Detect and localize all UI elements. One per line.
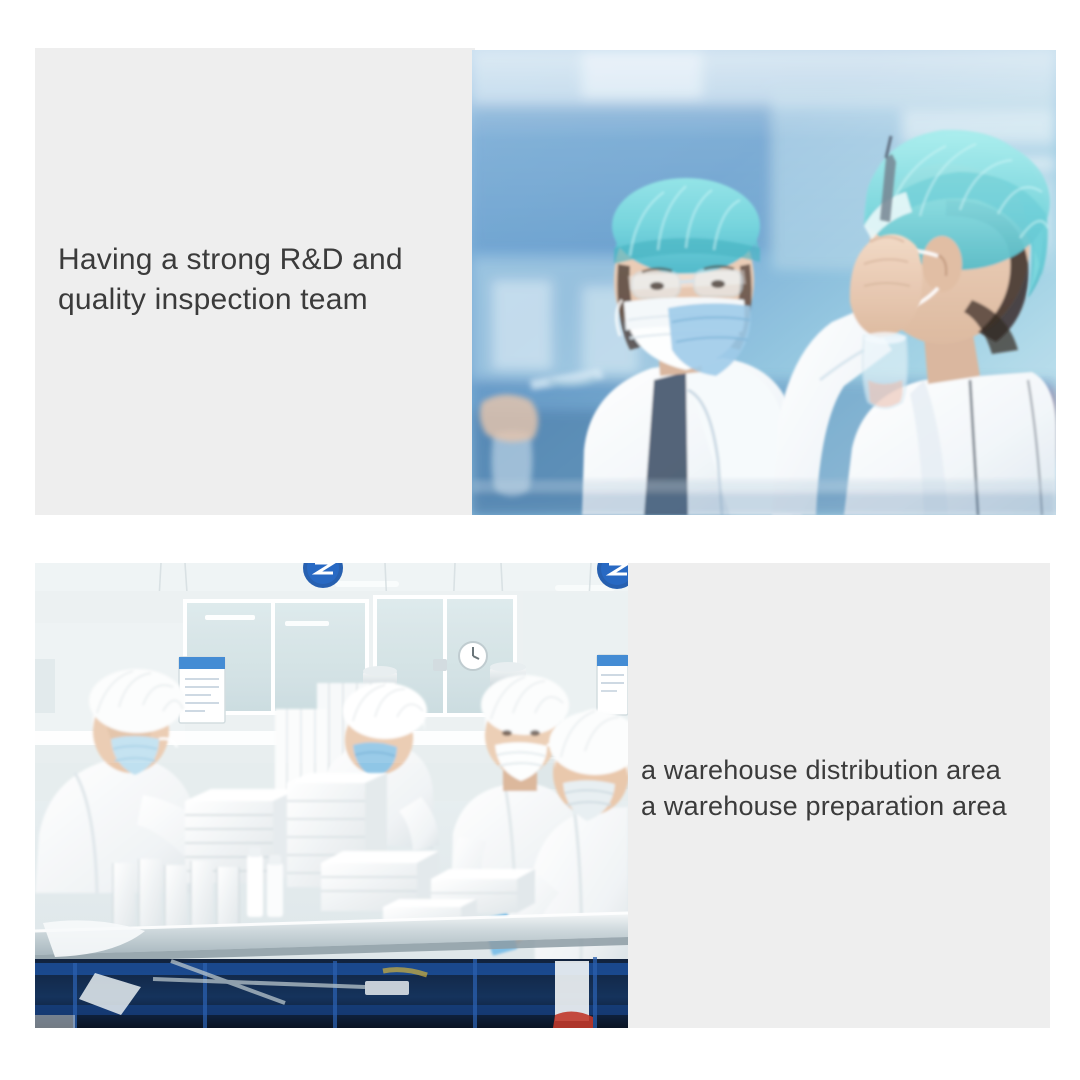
under-table [35, 957, 628, 1028]
warehouse-packing-illustration [35, 563, 628, 1028]
warehouse-packing-photo [35, 563, 628, 1028]
rnd-quality-caption: Having a strong R&D and quality inspecti… [58, 240, 458, 320]
warehouse-caption: a warehouse distribution area a warehous… [641, 752, 1051, 824]
lab-technicians-illustration [472, 50, 1056, 515]
lab-technicians-photo [472, 50, 1056, 515]
page-canvas: Having a strong R&D and quality inspecti… [0, 0, 1080, 1080]
